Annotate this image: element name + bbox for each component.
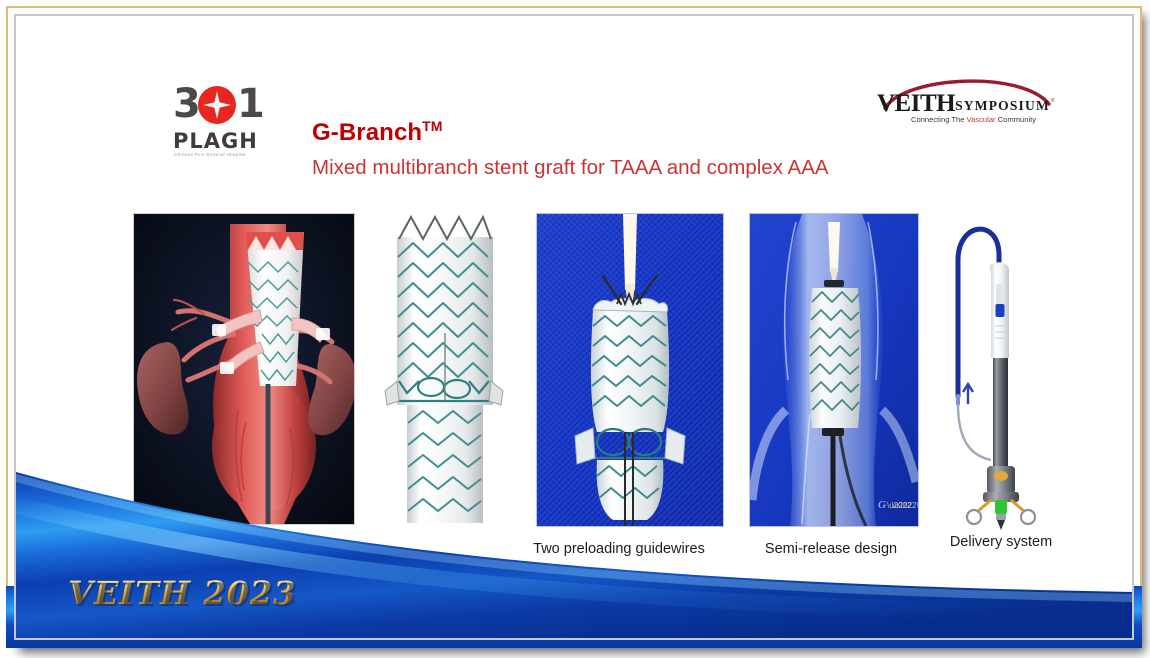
veith-wordmark-main: VEITH [877,90,955,117]
figure-stent-graft-device-photo [373,215,515,527]
veith-tagline: Connecting The Vascular Community [911,115,1036,124]
figure-preloading-guidewires-photo [536,213,724,527]
trademark-mark: TM [422,118,442,134]
veith-2023-badge: VEITH 2023 [68,574,296,612]
plagh-subtitle: Chinese PLA General Hospital [174,152,246,157]
veith-tagline-post: Community [996,115,1037,124]
page-title-text: G-Branch [312,119,422,146]
veith-registered-mark: ® [1051,98,1055,104]
figure-semi-release-design-photo: G \u2022 \u2022\u2022 [749,213,919,527]
slide-root: 3 1 PLAGH Chinese PLA General Hospital V… [0,0,1150,658]
veith-tagline-pre: Connecting The [911,115,967,124]
plagh-cross-icon [203,91,231,119]
veith-symposium-logo: VEITHSYMPOSIUM® Connecting The Vascular … [871,74,1066,126]
figure-caption-endograft: G-Branch endograft [166,541,386,557]
plagh-logo-mark: 3 1 [171,82,267,132]
slide-inner-border: 3 1 PLAGH Chinese PLA General Hospital V… [14,14,1134,640]
figure-delivery-system-photo [933,208,1069,532]
veith-wordmark: VEITHSYMPOSIUM® [877,90,1054,118]
svg-text:\u2022\u2022: \u2022\u2022 [892,501,918,510]
plagh-numeral-1: 1 [237,84,265,124]
figure-caption-delivery-system: Delivery system [891,534,1111,550]
plagh-numeral-3: 3 [173,84,199,124]
veith-tagline-accent: Vascular [967,115,996,124]
figure-g-branch-endograft-illustration [133,213,355,525]
plagh-logo: 3 1 PLAGH Chinese PLA General Hospital [171,82,267,162]
page-title: G-BranchTM [312,118,443,147]
veith-wordmark-symposium: SYMPOSIUM [955,98,1050,113]
svg-text:G: G [878,499,886,511]
plagh-wordmark: PLAGH [173,130,258,152]
page-subtitle: Mixed multibranch stent graft for TAAA a… [312,156,829,180]
figure-caption-guidewires: Two preloading guidewires [504,541,734,557]
